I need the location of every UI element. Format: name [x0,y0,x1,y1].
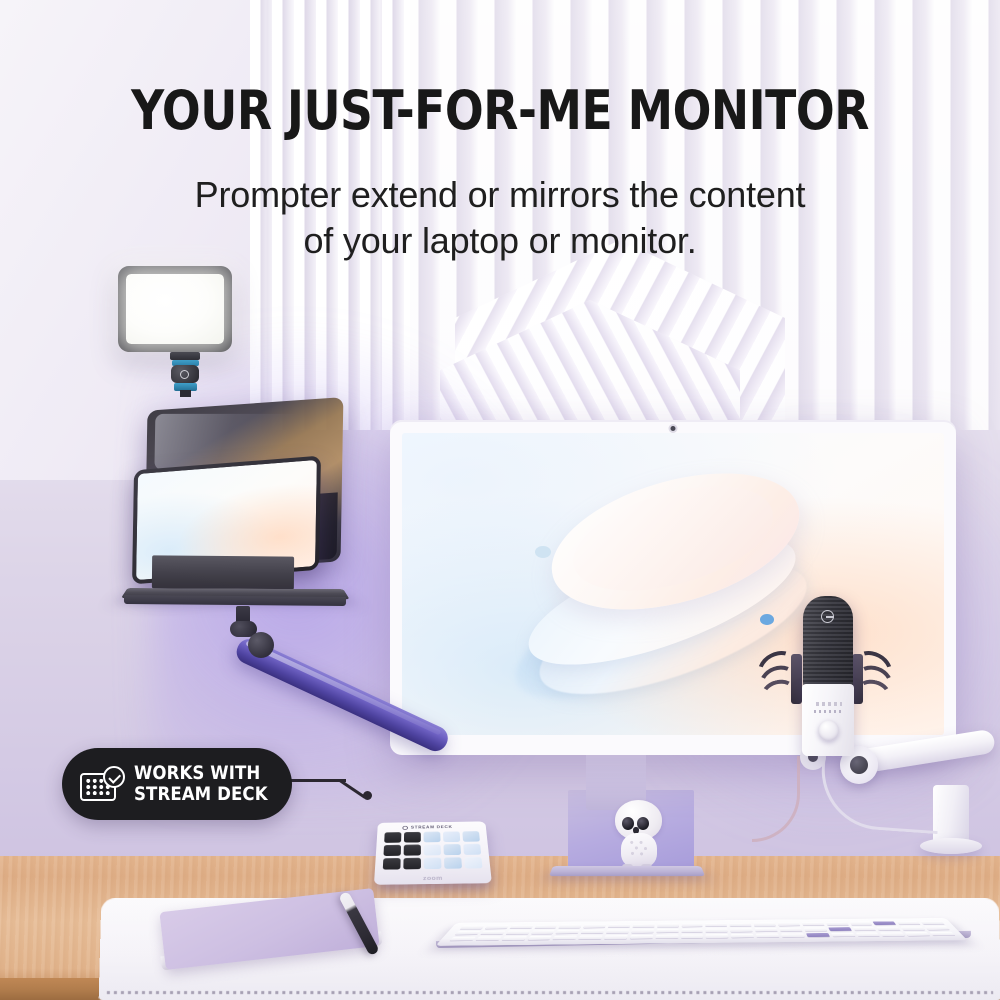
stream-deck-key[interactable] [443,844,461,855]
stream-deck-key[interactable] [424,832,441,843]
stream-deck[interactable]: STREAM DECK zoom [374,821,492,884]
stream-deck-key[interactable] [383,845,401,856]
stream-deck-key[interactable] [463,844,481,855]
stream-deck-check-icon [80,767,124,801]
stream-deck-key[interactable] [403,858,421,870]
stream-deck-key[interactable] [404,845,421,856]
monitor-base [549,866,705,876]
badge-text: WORKS WITH STREAM DECK [134,763,268,806]
subtitle-line-2: of your laptop or monitor. [0,218,1000,264]
mic-gain-knob[interactable] [818,720,839,741]
mount-stem [180,390,191,397]
product-marketing-image: STREAM DECK zoom [0,0,1000,1000]
stream-deck-key[interactable] [464,857,482,869]
mic-level-leds [816,702,842,706]
prompter-tray-edge [124,595,346,606]
brand-logo-icon [821,610,834,623]
owl-figurine [608,800,670,870]
stream-deck-key[interactable] [424,857,442,869]
key-light-panel [126,274,224,344]
desk-mat-stitching [107,991,993,994]
wallpaper-dot-blue-left [535,546,551,558]
brand-logo-icon [180,370,189,379]
prompter-hood [152,555,294,589]
webcam-icon [671,426,676,431]
works-with-stream-deck-badge: WORKS WITH STREAM DECK [62,748,292,820]
stream-deck-key[interactable] [383,858,401,870]
badge-leader-dot [363,791,372,800]
page-subtitle: Prompter extend or mirrors the content o… [0,172,1000,264]
mount-clamp [170,352,200,360]
wallpaper-dot-blue-right [760,614,774,625]
microphone[interactable] [793,596,863,758]
stream-deck-key[interactable] [462,831,480,842]
badge-line-1: WORKS WITH [134,763,268,784]
stream-deck-key[interactable] [424,844,441,855]
boom-arm-mount-foot [920,838,982,854]
prompter-arm-knob[interactable] [248,632,274,658]
mic-level-leds-secondary [814,710,844,713]
badge-line-2: STREAM DECK [134,784,268,805]
page-title: YOUR JUST-FOR-ME MONITOR [30,84,970,138]
owl-body [621,833,657,868]
key-light[interactable] [118,266,232,352]
stream-deck-key[interactable] [404,832,421,843]
stream-deck-key[interactable] [384,832,401,843]
mic-body[interactable] [802,684,854,756]
shock-mount-right [851,652,897,706]
stream-deck-key[interactable] [444,857,462,869]
subtitle-line-1: Prompter extend or mirrors the content [0,172,1000,218]
stream-deck-key-grid[interactable] [383,831,483,870]
stream-deck-key[interactable] [443,831,460,842]
shock-mount-left [757,652,803,706]
ball-head-mount[interactable] [166,352,204,396]
